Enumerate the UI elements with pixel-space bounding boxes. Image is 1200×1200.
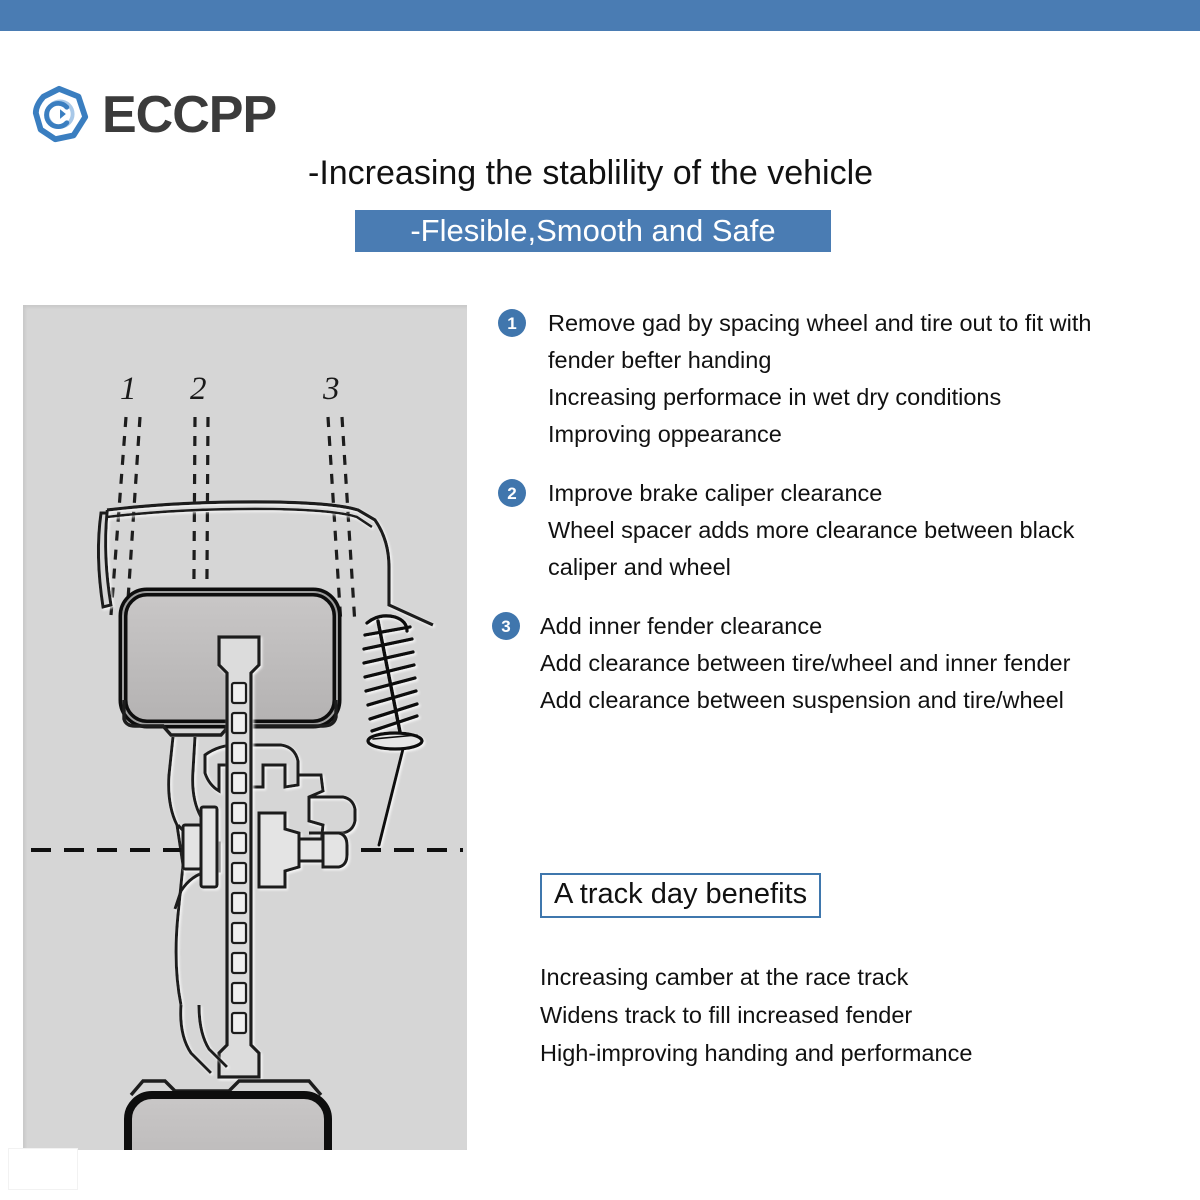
- diagram-number-2: 2: [190, 371, 207, 407]
- feature-line: Wheel spacer adds more clearance between…: [548, 512, 1190, 549]
- brand-name: ECCPP: [102, 89, 276, 141]
- benefit-line: Increasing camber at the race track: [540, 958, 972, 996]
- subheadline-banner: -Flesible,Smooth and Safe: [355, 210, 831, 252]
- feature-list: 1 Remove gad by spacing wheel and tire o…: [490, 305, 1190, 741]
- feature-text-1: Remove gad by spacing wheel and tire out…: [548, 305, 1190, 453]
- feature-item-2: 2 Improve brake caliper clearance Wheel …: [490, 475, 1190, 586]
- benefits-title: A track day benefits: [540, 873, 821, 918]
- feature-line: Add inner fender clearance: [540, 608, 1190, 645]
- feature-text-3: Add inner fender clearance Add clearance…: [540, 608, 1190, 719]
- benefit-line: High-improving handing and performance: [540, 1034, 972, 1072]
- coil-spring-strut: [364, 616, 422, 845]
- feature-item-1: 1 Remove gad by spacing wheel and tire o…: [490, 305, 1190, 453]
- feature-marker-1: 1: [498, 309, 526, 337]
- headline: -Increasing the stablility of the vehicl…: [308, 154, 873, 193]
- poster-root: ECCPP -Increasing the stablility of the …: [0, 0, 1200, 1200]
- bottom-left-artifact: [8, 1148, 78, 1190]
- feature-line: Increasing performace in wet dry conditi…: [548, 379, 1190, 416]
- eccpp-hexagon-logo-icon: [30, 84, 92, 146]
- feature-line: Improving oppearance: [548, 416, 1190, 453]
- feature-item-3: 3 Add inner fender clearance Add clearan…: [490, 608, 1190, 719]
- suspension-diagram: 1 2 3: [23, 305, 467, 1150]
- feature-line: Add clearance between tire/wheel and inn…: [540, 645, 1190, 682]
- diagram-number-3: 3: [322, 371, 340, 407]
- diagram-number-1: 1: [120, 371, 137, 407]
- feature-marker-2: 2: [498, 479, 526, 507]
- top-blue-bar: [0, 0, 1200, 31]
- feature-line: caliper and wheel: [548, 549, 1190, 586]
- brand-logo: ECCPP: [30, 84, 276, 146]
- feature-line: Improve brake caliper clearance: [548, 475, 1190, 512]
- feature-line: Add clearance between suspension and tir…: [540, 682, 1190, 719]
- feature-text-2: Improve brake caliper clearance Wheel sp…: [548, 475, 1190, 586]
- feature-line: Remove gad by spacing wheel and tire out…: [548, 305, 1190, 342]
- benefits-list: Increasing camber at the race track Wide…: [540, 958, 972, 1072]
- lower-tire: [128, 1081, 328, 1150]
- feature-line: fender befter handing: [548, 342, 1190, 379]
- feature-marker-3: 3: [492, 612, 520, 640]
- benefit-line: Widens track to fill increased fender: [540, 996, 972, 1034]
